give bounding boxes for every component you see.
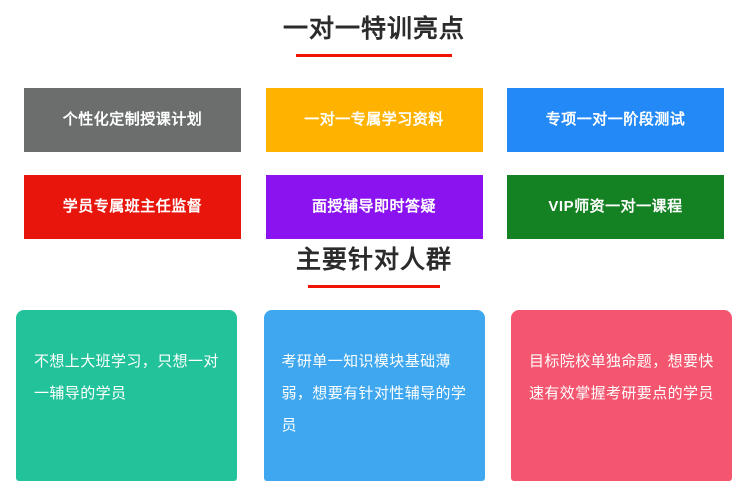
heading-underline	[296, 54, 452, 57]
section-heading-highlights: 一对一特训亮点	[0, 12, 748, 57]
audience-card-text: 考研单一知识模块基础薄弱，想要有针对性辅导的学员	[282, 346, 467, 442]
feature-tile-label: 学员专属班主任监督	[63, 197, 203, 217]
audience-card-text: 不想上大班学习，只想一对一辅导的学员	[34, 346, 219, 410]
feature-tile-exclusive-materials[interactable]: 一对一专属学习资料	[266, 88, 483, 152]
section-heading-audience: 主要针对人群	[0, 243, 748, 288]
feature-tile-label: 个性化定制授课计划	[63, 110, 203, 130]
feature-tile-label: 专项一对一阶段测试	[546, 110, 686, 130]
feature-tile-personalized-plan[interactable]: 个性化定制授课计划	[24, 88, 241, 152]
audience-card-weak-module[interactable]: 考研单一知识模块基础薄弱，想要有针对性辅导的学员	[264, 310, 485, 481]
feature-tile-stage-test[interactable]: 专项一对一阶段测试	[507, 88, 724, 152]
feature-tile-row-2: 学员专属班主任监督 面授辅导即时答疑 VIP师资一对一课程	[24, 175, 724, 239]
feature-tile-head-teacher-supervision[interactable]: 学员专属班主任监督	[24, 175, 241, 239]
feature-tile-face-to-face-qa[interactable]: 面授辅导即时答疑	[266, 175, 483, 239]
feature-tile-label: 面授辅导即时答疑	[312, 197, 436, 217]
audience-card-text: 目标院校单独命题，想要快速有效掌握考研要点的学员	[529, 346, 714, 410]
feature-tile-row-1: 个性化定制授课计划 一对一专属学习资料 专项一对一阶段测试	[24, 88, 724, 152]
audience-card-row: 不想上大班学习，只想一对一辅导的学员 考研单一知识模块基础薄弱，想要有针对性辅导…	[16, 310, 732, 481]
audience-card-one-on-one[interactable]: 不想上大班学习，只想一对一辅导的学员	[16, 310, 237, 481]
section-title: 主要针对人群	[0, 243, 748, 277]
feature-tile-vip-course[interactable]: VIP师资一对一课程	[507, 175, 724, 239]
promo-page: 一对一特训亮点 个性化定制授课计划 一对一专属学习资料 专项一对一阶段测试 学员…	[0, 0, 748, 498]
feature-tile-label: 一对一专属学习资料	[304, 110, 444, 130]
feature-tile-label: VIP师资一对一课程	[548, 197, 682, 217]
page-title: 一对一特训亮点	[0, 12, 748, 46]
audience-card-target-school[interactable]: 目标院校单独命题，想要快速有效掌握考研要点的学员	[511, 310, 732, 481]
heading-underline	[308, 285, 440, 288]
